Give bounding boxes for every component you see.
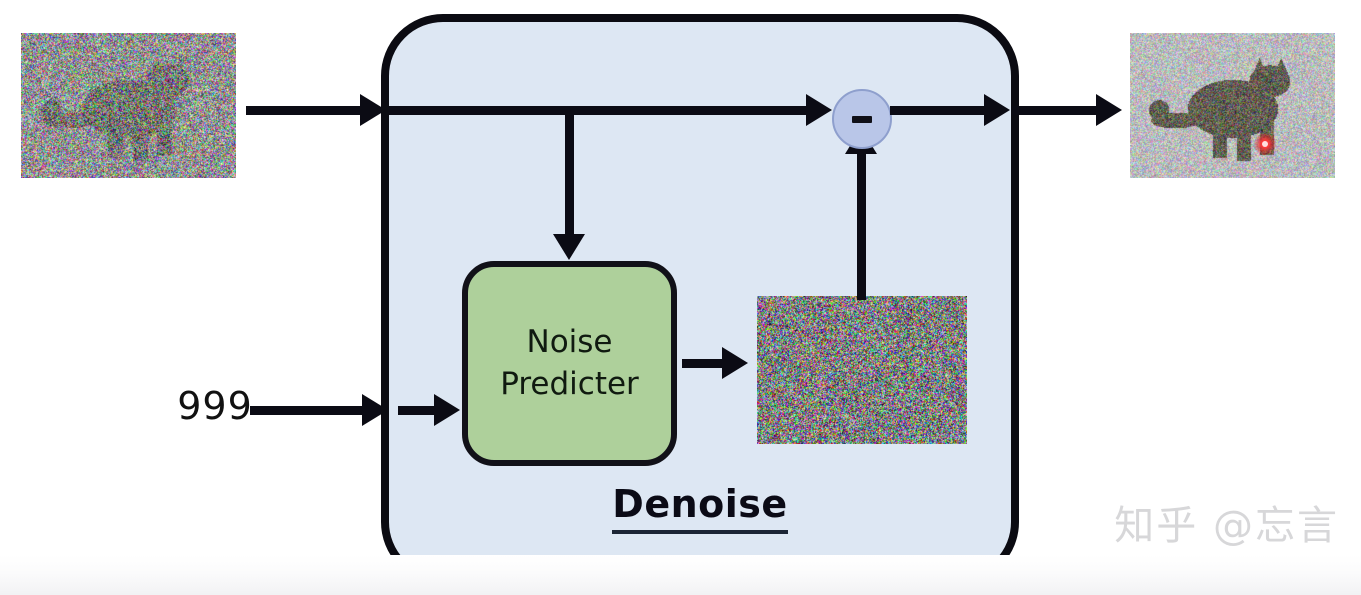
predicted-noise-texture (757, 296, 967, 444)
noise-to-subtract-line (857, 152, 866, 300)
denoise-title-text: Denoise (612, 482, 787, 534)
subtract-output-arrow-head (984, 94, 1010, 126)
output-denoised-image (1130, 33, 1335, 178)
input-noisy-image (21, 33, 236, 178)
noise-predicter-node[interactable]: Noise Predicter (462, 261, 677, 466)
diagram-canvas: 999 Denoise Noise Predicter (0, 0, 1361, 595)
predicted-noise-image (757, 296, 967, 444)
watermark-text: 知乎 @忘言 (1114, 493, 1339, 551)
timestep-arrow-line (250, 406, 370, 415)
timestep-inner-arrow-head (434, 394, 460, 426)
red-cursor-dot (1254, 133, 1276, 155)
subtract-node[interactable] (832, 89, 892, 149)
input-noise-texture (21, 33, 236, 178)
output-noise-texture (1130, 33, 1335, 178)
branch-to-predicter-line (565, 106, 574, 238)
skip-connection-line (389, 106, 821, 115)
branch-to-predicter-arrow-head (553, 234, 585, 260)
predicter-output-arrow-head (722, 347, 748, 379)
skip-connection-arrow-head (806, 94, 832, 126)
noise-predicter-label-line1: Noise (527, 322, 613, 364)
denoise-title: Denoise (389, 482, 1011, 534)
noise-predicter-label-line2: Predicter (500, 364, 639, 406)
minus-icon (852, 116, 872, 123)
input-arrow-line (246, 106, 366, 115)
output-arrow-head (1096, 94, 1122, 126)
